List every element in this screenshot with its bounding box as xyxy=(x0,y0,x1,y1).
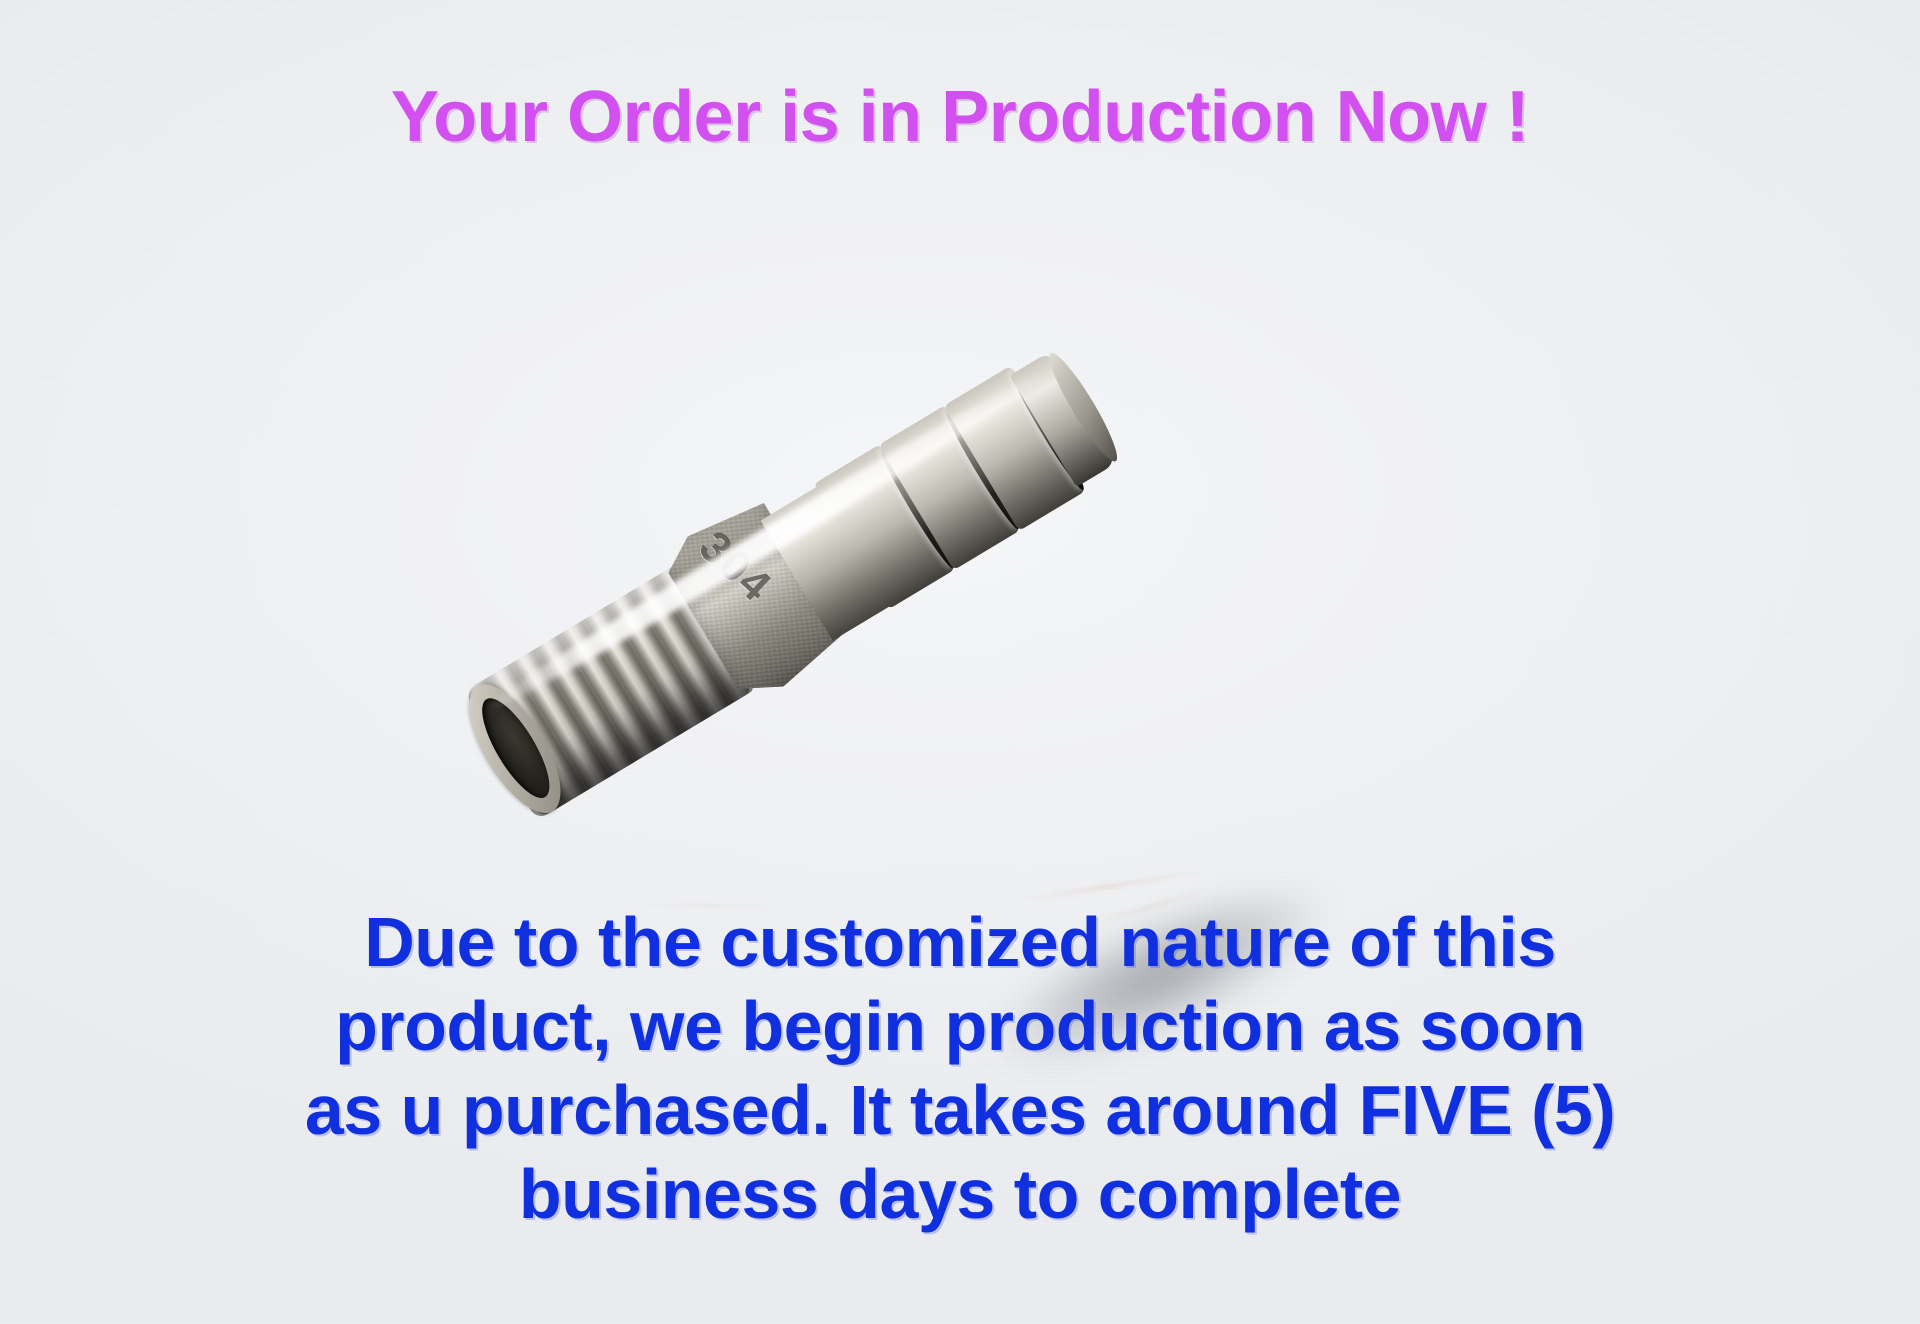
product-photo-hose-barb-fitting: 304 xyxy=(455,300,1155,720)
notice-line: business days to complete xyxy=(0,1152,1920,1236)
notice-line: as u purchased. It takes around FIVE (5) xyxy=(0,1068,1920,1152)
notice-line: Due to the customized nature of this xyxy=(0,900,1920,984)
headline-order-in-production: Your Order is in Production Now ! xyxy=(0,76,1920,158)
promotional-banner: Your Order is in Production Now ! 304 Du… xyxy=(0,0,1920,1324)
production-notice-text: Due to the customized nature of this pro… xyxy=(0,900,1920,1236)
notice-line: product, we begin production as soon xyxy=(0,984,1920,1068)
